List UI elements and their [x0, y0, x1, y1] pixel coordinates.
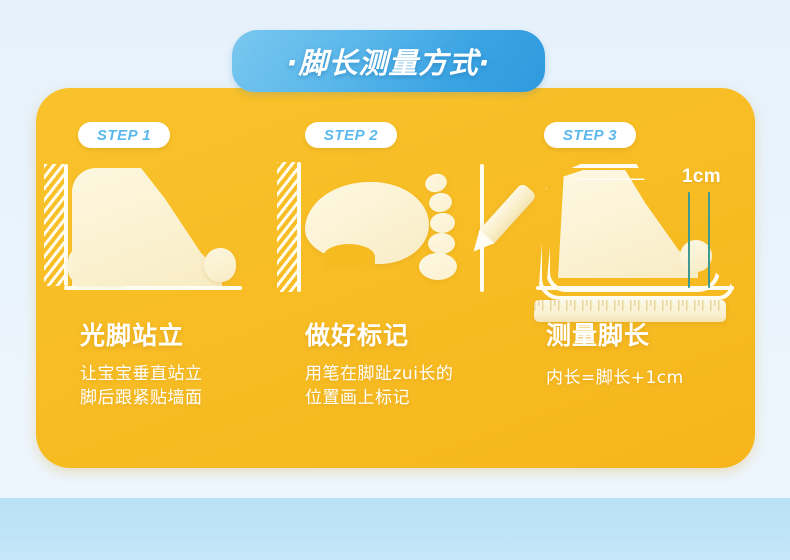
- footprint-toe-icon: [429, 212, 455, 234]
- floor-line-icon: [64, 286, 242, 290]
- step-3-text: 测量脚长 内长=脚长+1cm: [514, 316, 785, 390]
- footprint-toe-icon: [423, 171, 449, 195]
- step-3-badge: STEP 3: [544, 122, 636, 148]
- measure-lines-icon: [708, 192, 710, 288]
- step-2-heading: 做好标记: [305, 316, 544, 352]
- infographic-stage: ·脚长测量方式· STEP 1 光脚站立 让宝宝垂直站立 脚: [0, 0, 790, 560]
- step-column-3: STEP 3 1cm 测量脚长: [514, 88, 753, 468]
- step-3-badge-label: STEP 3: [563, 127, 617, 144]
- step-1-badge: STEP 1: [78, 122, 170, 148]
- step-2-line-1: 用笔在脚趾zui长的: [305, 362, 544, 386]
- step-3-heading: 测量脚长: [546, 316, 785, 352]
- step-column-2: STEP 2 做好标记: [275, 88, 514, 468]
- step-2-line-2: 位置画上标记: [305, 386, 544, 410]
- step-3-line-1: 内长=脚长+1cm: [546, 366, 785, 390]
- step-1-illustration: [36, 160, 275, 310]
- banner-title: ·脚长测量方式·: [286, 40, 490, 82]
- title-banner: ·脚长测量方式·: [232, 30, 545, 92]
- wall-hatch-icon: [297, 162, 301, 292]
- footprint-toe-icon: [419, 253, 457, 280]
- step-2-text: 做好标记 用笔在脚趾zui长的 位置画上标记: [275, 316, 544, 410]
- footprint-toe-icon: [428, 191, 454, 214]
- shoe-outline-icon: [538, 176, 734, 300]
- foot-in-shoe-icon: 1cm: [520, 160, 745, 310]
- step-2-illustration: [275, 160, 514, 310]
- background-lower-band: [0, 498, 790, 560]
- footprint-sole-icon: [305, 182, 429, 264]
- step-2-badge-label: STEP 2: [324, 127, 378, 144]
- foot-side-toe-icon: [204, 248, 236, 282]
- footprint-toe-icon: [428, 233, 455, 254]
- step-3-illustration: 1cm: [514, 160, 753, 310]
- step-column-1: STEP 1 光脚站立 让宝宝垂直站立 脚后跟紧贴墙面: [36, 88, 275, 468]
- step-1-badge-label: STEP 1: [97, 127, 151, 144]
- foot-side-icon: [72, 168, 222, 286]
- steps-columns: STEP 1 光脚站立 让宝宝垂直站立 脚后跟紧贴墙面 STEP: [36, 88, 755, 468]
- measure-lines-icon: [688, 192, 690, 288]
- step-2-badge: STEP 2: [305, 122, 397, 148]
- shoe-sole-icon: [536, 286, 734, 290]
- measure-label: 1cm: [682, 166, 721, 188]
